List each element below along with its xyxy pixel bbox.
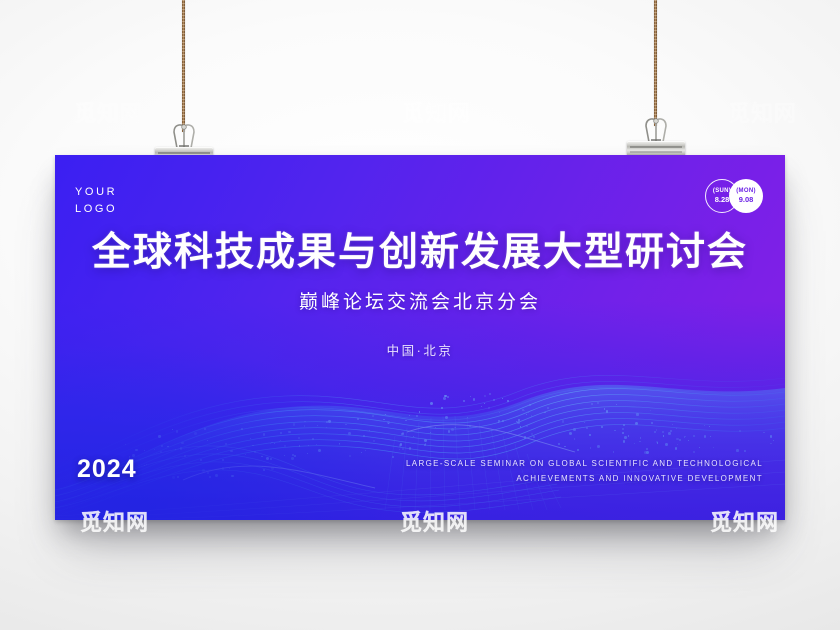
clip-handle-icon — [169, 122, 199, 149]
hanging-rope-left — [182, 0, 185, 132]
poster-location: 中国·北京 — [55, 340, 785, 359]
date-end-date: 9.08 — [739, 195, 754, 204]
poster-strapline: LARGE-SCALE SEMINAR ON GLOBAL SCIENTIFIC… — [406, 456, 763, 487]
brand-logo: YOUR LOGO — [75, 184, 117, 218]
poster-year: 2024 — [77, 455, 137, 484]
watermark: 觅知网 — [74, 96, 143, 128]
hanging-rope-right — [654, 0, 657, 126]
date-start-date: 8.28 — [715, 195, 730, 204]
poster-title: 全球科技成果与创新发展大型研讨会 — [55, 231, 785, 275]
wave-graphic — [55, 340, 785, 520]
watermark: 觅知网 — [728, 96, 797, 128]
strapline-line-2: ACHIEVEMENTS AND INNOVATIVE DEVELOPMENT — [406, 471, 763, 487]
strapline-line-1: LARGE-SCALE SEMINAR ON GLOBAL SCIENTIFIC… — [406, 456, 763, 472]
headline-block: 全球科技成果与创新发展大型研讨会 巅峰论坛交流会北京分会 中国·北京 — [55, 231, 785, 359]
clip-handle-icon — [641, 116, 671, 143]
binder-clip-right — [627, 116, 685, 160]
watermark: 觅知网 — [402, 96, 471, 128]
date-end-day: (MON) — [736, 188, 756, 195]
brand-line-2: LOGO — [75, 201, 117, 218]
poster-board: YOUR LOGO (SUN) 8.28 (MON) 9.08 全球科技成果与创… — [55, 155, 785, 520]
date-circle-end: (MON) 9.08 — [729, 179, 763, 213]
poster-scene: YOUR LOGO (SUN) 8.28 (MON) 9.08 全球科技成果与创… — [0, 0, 840, 630]
wave-glow — [55, 385, 785, 520]
poster-subtitle: 巅峰论坛交流会北京分会 — [55, 287, 785, 314]
brand-line-1: YOUR — [75, 184, 117, 201]
date-badge: (SUN) 8.28 (MON) 9.08 — [705, 179, 763, 213]
